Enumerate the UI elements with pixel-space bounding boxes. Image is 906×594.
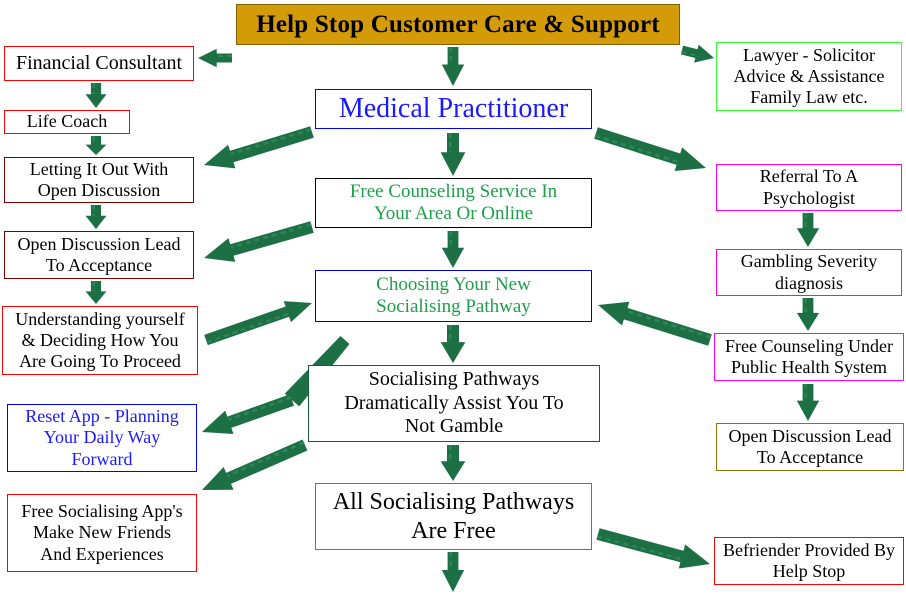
node-life-coach[interactable]: Life Coach bbox=[4, 110, 130, 134]
arrow-medical-practitioner-to-referral bbox=[594, 127, 706, 171]
arrow-title-to-financial-consultant bbox=[198, 49, 232, 68]
arrow-medical-practitioner-to-free-counseling bbox=[441, 133, 466, 176]
node-lawyer-solicitor[interactable]: Lawyer - Solicitor Advice & Assistance F… bbox=[716, 42, 902, 111]
arrow-choosing-to-socialising-pathways bbox=[441, 325, 466, 363]
node-financial-consultant[interactable]: Financial Consultant bbox=[4, 46, 194, 81]
node-all-socialising-pathways-are-free[interactable]: All Socialising Pathways Are Free bbox=[315, 483, 592, 550]
node-free-socialising-apps[interactable]: Free Socialising App's Make New Friends … bbox=[7, 494, 197, 572]
arrow-understanding-to-choosing bbox=[204, 301, 312, 345]
arrow-letting-it-out-to-open-discussion bbox=[86, 205, 107, 229]
arrow-life-coach-to-letting-it-out bbox=[86, 136, 107, 155]
node-free-counseling-service[interactable]: Free Counseling Service In Your Area Or … bbox=[315, 178, 592, 228]
node-understanding-yourself[interactable]: Understanding yourself & Deciding How Yo… bbox=[2, 306, 198, 375]
node-medical-practitioner[interactable]: Medical Practitioner bbox=[315, 89, 592, 129]
arrow-all-free-downward bbox=[442, 552, 464, 592]
node-socialising-pathways-dramatically-assist[interactable]: Socialising Pathways Dramatically Assist… bbox=[308, 365, 600, 442]
node-letting-it-out-with-open-discussion[interactable]: Letting It Out With Open Discussion bbox=[4, 157, 194, 203]
arrow-all-free-to-befriender bbox=[596, 528, 710, 568]
arrow-free-counseling-public-to-open-discussion bbox=[797, 384, 819, 421]
arrow-financial-consultant-to-life-coach bbox=[86, 83, 107, 108]
node-free-counseling-under-public-health-system[interactable]: Free Counseling Under Public Health Syst… bbox=[714, 333, 904, 381]
arrow-free-counseling-to-open-discussion bbox=[204, 221, 314, 262]
arrow-free-counseling-public-to-choosing bbox=[598, 302, 712, 346]
arrow-socialising-pathways-to-all-free bbox=[441, 445, 466, 481]
arrow-free-counseling-to-choosing bbox=[442, 231, 464, 268]
arrow-gambling-severity-to-free-counseling-public bbox=[797, 298, 819, 331]
node-choosing-your-new-socialising-pathway[interactable]: Choosing Your New Socialising Pathway bbox=[315, 270, 592, 322]
node-reset-app-planning-your-daily-way-forward[interactable]: Reset App - Planning Your Daily Way Forw… bbox=[7, 404, 197, 472]
arrow-medical-practitioner-to-letting-it-out bbox=[204, 126, 314, 168]
arrow-title-to-medical-practitioner bbox=[442, 47, 464, 86]
node-open-discussion-lead-to-acceptance-right[interactable]: Open Discussion Lead To Acceptance bbox=[716, 423, 904, 471]
node-help-stop-title[interactable]: Help Stop Customer Care & Support bbox=[236, 4, 680, 45]
arrow-referral-to-gambling-severity bbox=[797, 213, 819, 247]
node-open-discussion-lead-to-acceptance-left[interactable]: Open Discussion Lead To Acceptance bbox=[4, 231, 194, 279]
node-referral-to-a-psychologist[interactable]: Referral To A Psychologist bbox=[716, 164, 902, 211]
arrow-title-to-lawyer bbox=[681, 45, 714, 63]
arrow-socialising-pathways-to-free-apps bbox=[202, 440, 307, 491]
arrow-open-discussion-to-understanding bbox=[86, 281, 107, 304]
node-gambling-severity-diagnosis[interactable]: Gambling Severity diagnosis bbox=[716, 249, 902, 296]
node-befriender-provided-by-help-stop[interactable]: Befriender Provided By Help Stop bbox=[714, 537, 904, 585]
diagram-canvas: Help Stop Customer Care & SupportFinanci… bbox=[0, 0, 906, 594]
